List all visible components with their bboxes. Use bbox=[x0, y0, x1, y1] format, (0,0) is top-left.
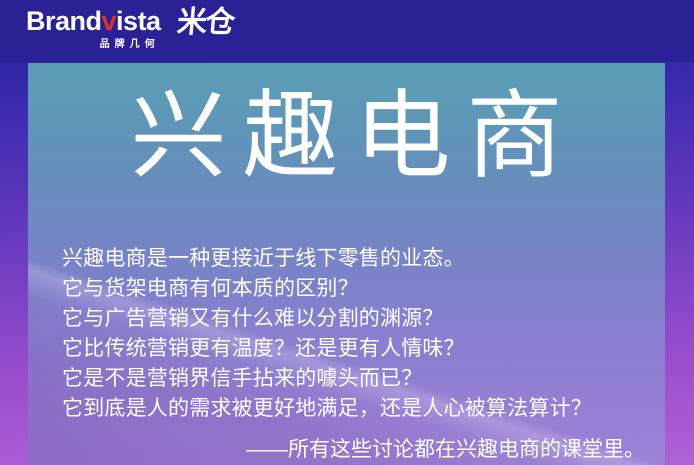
page-title: 兴趣电商 bbox=[28, 85, 665, 189]
wordmark-part-pre: Brand bbox=[26, 6, 102, 36]
content-panel: 兴趣电商 兴趣电商是一种更接近于线下零售的业态。 它与货架电商有何本质的区别？ … bbox=[28, 63, 665, 465]
brandvista-wordmark-text: Brandvista bbox=[26, 6, 161, 36]
body-text-block: 兴趣电商是一种更接近于线下零售的业态。 它与货架电商有何本质的区别？ 它与广告营… bbox=[62, 244, 642, 424]
body-line: 它与货架电商有何本质的区别？ bbox=[62, 274, 642, 304]
body-line: 它到底是人的需求被更好地满足，还是人心被算法算计？ bbox=[62, 394, 642, 424]
mi-cang-brandmark: 米仓 bbox=[175, 7, 234, 39]
brand-logo[interactable]: Brandvista 品牌几何 米仓 bbox=[26, 6, 233, 52]
body-line: 它比传统营销更有温度？还是更有人情味？ bbox=[62, 334, 642, 364]
body-line: 兴趣电商是一种更接近于线下零售的业态。 bbox=[62, 244, 642, 274]
brandvista-wordmark: Brandvista 品牌几何 bbox=[26, 6, 161, 36]
wordmark-accent-letter: v bbox=[102, 6, 117, 36]
body-line: 它是不是营销界信手拈来的噱头而已？ bbox=[62, 364, 642, 394]
brandvista-subtitle: 品牌几何 bbox=[100, 35, 160, 50]
wordmark-part-post: ista bbox=[116, 6, 161, 36]
header-bar: Brandvista 品牌几何 米仓 bbox=[0, 0, 694, 62]
panel-content: 兴趣电商 兴趣电商是一种更接近于线下零售的业态。 它与货架电商有何本质的区别？ … bbox=[28, 63, 665, 465]
slide-canvas: Brandvista 品牌几何 米仓 兴趣电商 兴趣电商是一种更接近于线下零售的… bbox=[0, 0, 694, 465]
closing-line: ——所有这些讨论都在兴趣电商的课堂里。 bbox=[28, 436, 645, 464]
body-line: 它与广告营销又有什么难以分割的渊源？ bbox=[62, 304, 642, 334]
